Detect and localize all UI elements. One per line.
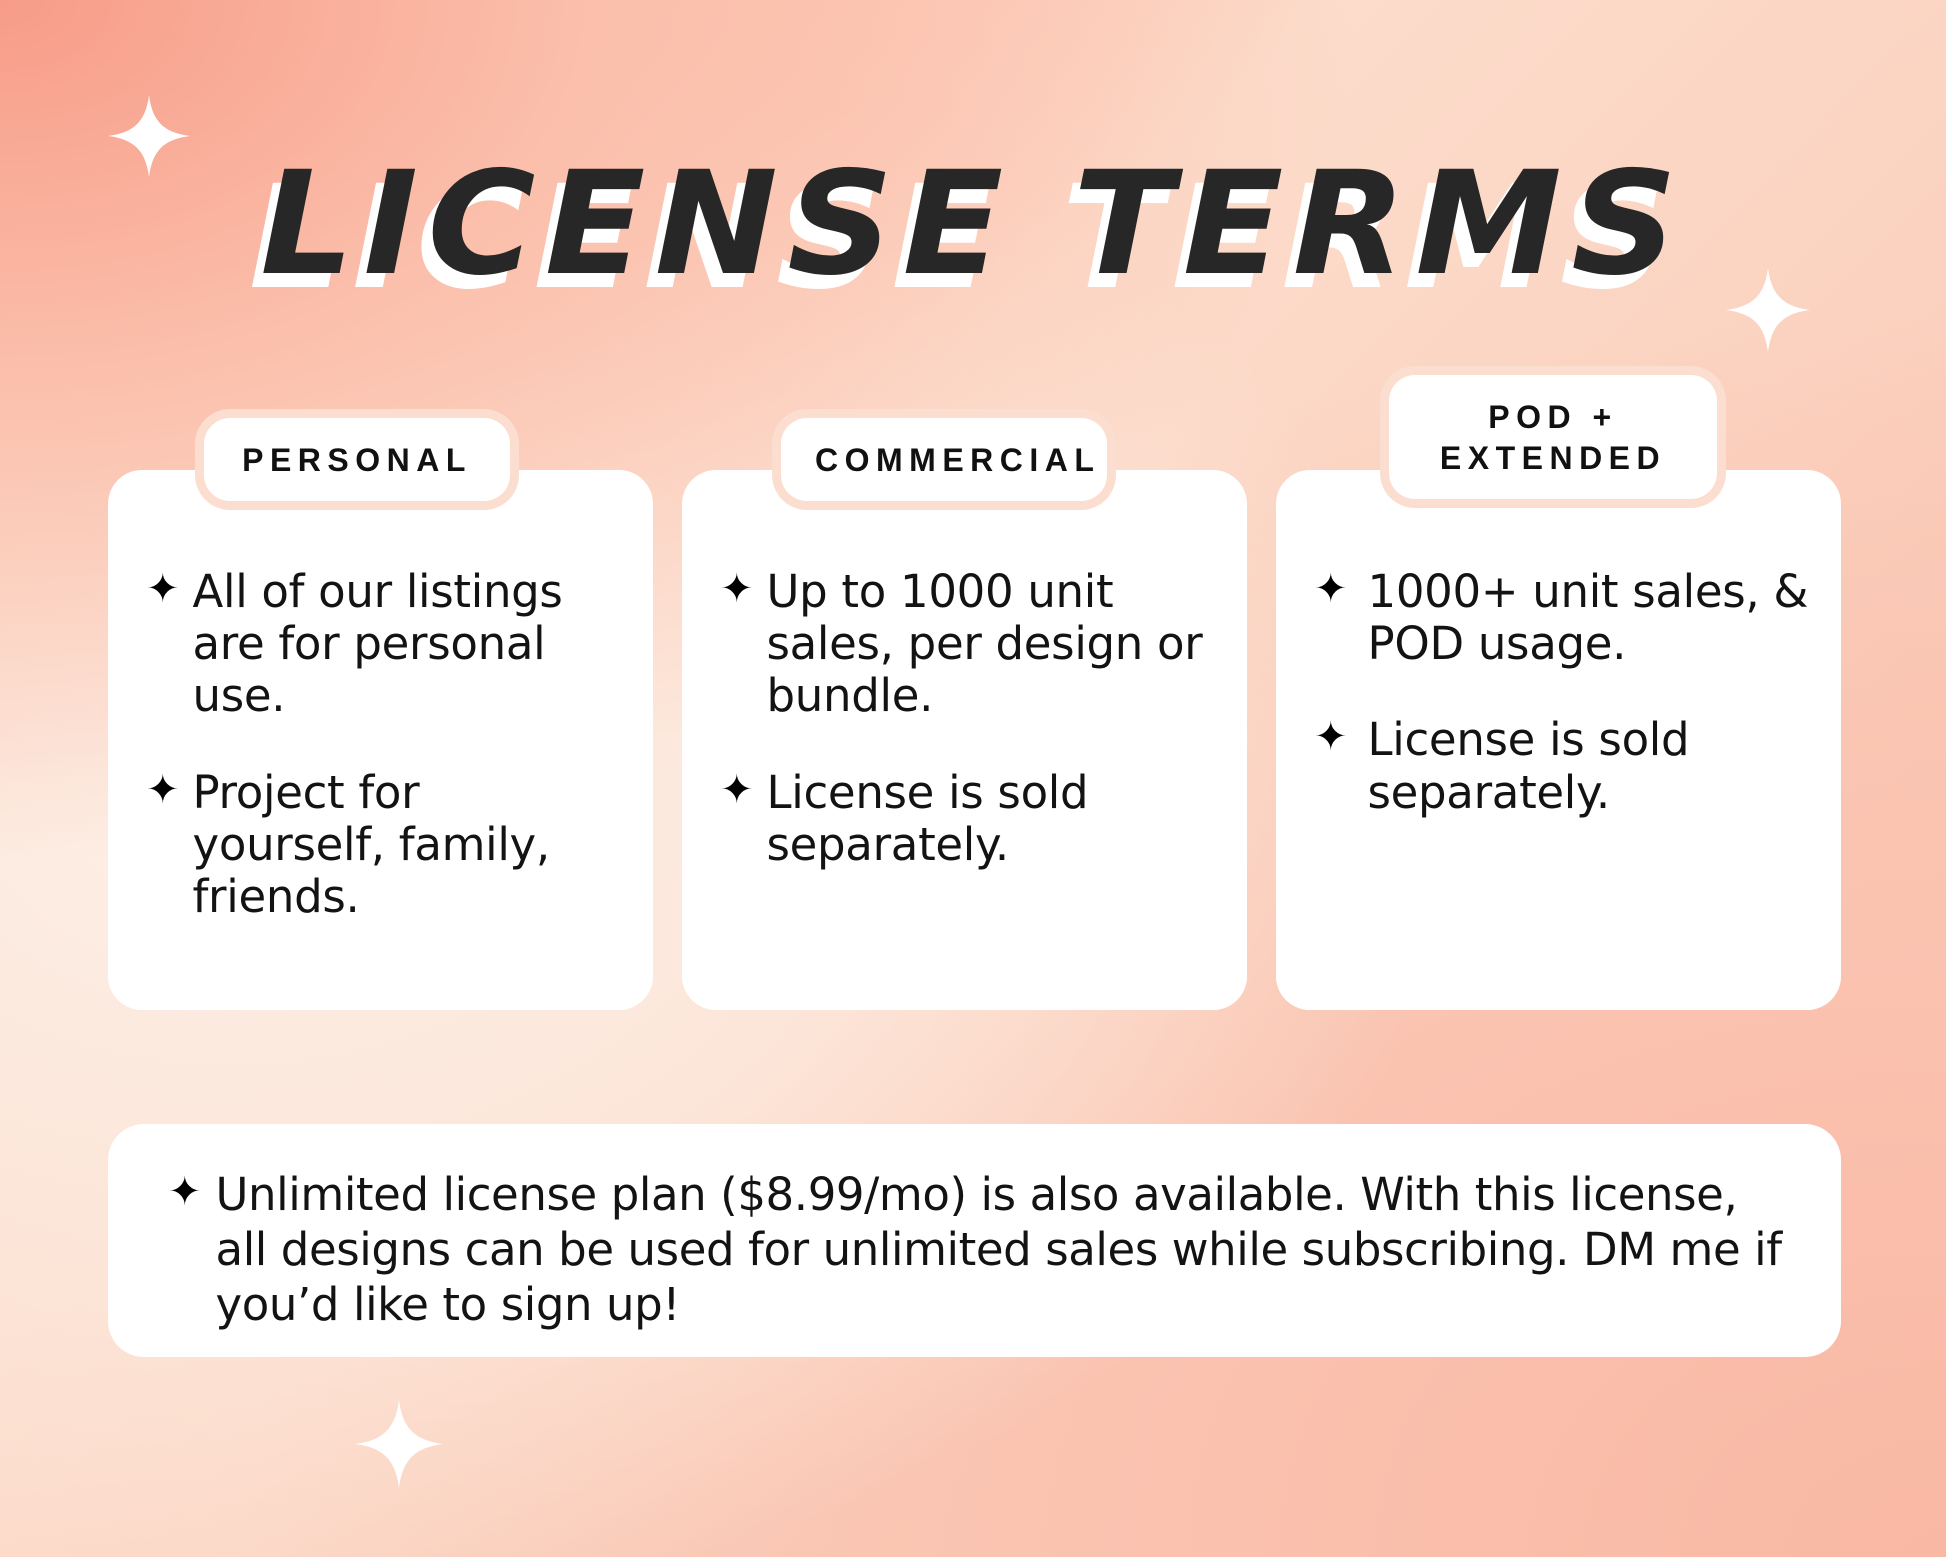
card-bullets-personal: ✦ All of our listings are for personal u… bbox=[108, 470, 653, 1010]
star-bullet-icon: ✦ bbox=[146, 566, 180, 613]
star-bullet-icon: ✦ bbox=[146, 767, 180, 814]
list-item-text: License is sold separately. bbox=[767, 767, 1217, 871]
banner-content: ✦ Unlimited license plan ($8.99/mo) is a… bbox=[108, 1124, 1841, 1333]
star-bullet-icon: ✦ bbox=[720, 767, 754, 814]
star-bullet-icon: ✦ bbox=[1314, 566, 1348, 613]
license-card-pod-extended: POD + EXTENDED ✦ 1000+ unit sales, & POD… bbox=[1276, 470, 1841, 1010]
banner-text: Unlimited license plan ($8.99/mo) is als… bbox=[216, 1168, 1801, 1333]
star-bullet-icon: ✦ bbox=[720, 566, 754, 613]
list-item: ✦ License is sold separately. bbox=[720, 767, 1217, 871]
card-bullets-commercial: ✦ Up to 1000 unit sales, per design or b… bbox=[682, 470, 1247, 1010]
list-item-text: Project for yourself, family, friends. bbox=[193, 767, 623, 924]
list-item-text: Up to 1000 unit sales, per design or bun… bbox=[767, 566, 1217, 723]
page-title-text: LICENSE TERMS bbox=[260, 140, 1686, 307]
card-badge-pod-extended: POD + EXTENDED bbox=[1389, 375, 1717, 499]
card-badge-commercial: COMMERCIAL bbox=[781, 418, 1107, 501]
license-card-personal: PERSONAL ✦ All of our listings are for p… bbox=[108, 470, 653, 1010]
list-item-text: License is sold separately. bbox=[1368, 714, 1811, 818]
page-title: LICENSE TERMS LICENSE TERMS bbox=[0, 152, 1946, 302]
sparkle-bottom-icon bbox=[355, 1400, 443, 1488]
license-card-commercial: COMMERCIAL ✦ Up to 1000 unit sales, per … bbox=[682, 470, 1247, 1010]
list-item: ✦ 1000+ unit sales, & POD usage. bbox=[1314, 566, 1811, 670]
list-item: ✦ License is sold separately. bbox=[1314, 714, 1811, 818]
license-tier-cards: PERSONAL ✦ All of our listings are for p… bbox=[108, 470, 1841, 1010]
unlimited-plan-banner: ✦ Unlimited license plan ($8.99/mo) is a… bbox=[108, 1124, 1841, 1357]
star-bullet-icon: ✦ bbox=[1314, 714, 1348, 761]
list-item: ✦ Project for yourself, family, friends. bbox=[146, 767, 623, 924]
list-item-text: All of our listings are for personal use… bbox=[193, 566, 623, 723]
card-badge-personal: PERSONAL bbox=[204, 418, 510, 501]
list-item: ✦ Up to 1000 unit sales, per design or b… bbox=[720, 566, 1217, 723]
list-item: ✦ All of our listings are for personal u… bbox=[146, 566, 623, 723]
star-bullet-icon: ✦ bbox=[168, 1168, 202, 1216]
list-item-text: 1000+ unit sales, & POD usage. bbox=[1368, 566, 1811, 670]
card-bullets-pod-extended: ✦ 1000+ unit sales, & POD usage. ✦ Licen… bbox=[1276, 470, 1841, 1010]
